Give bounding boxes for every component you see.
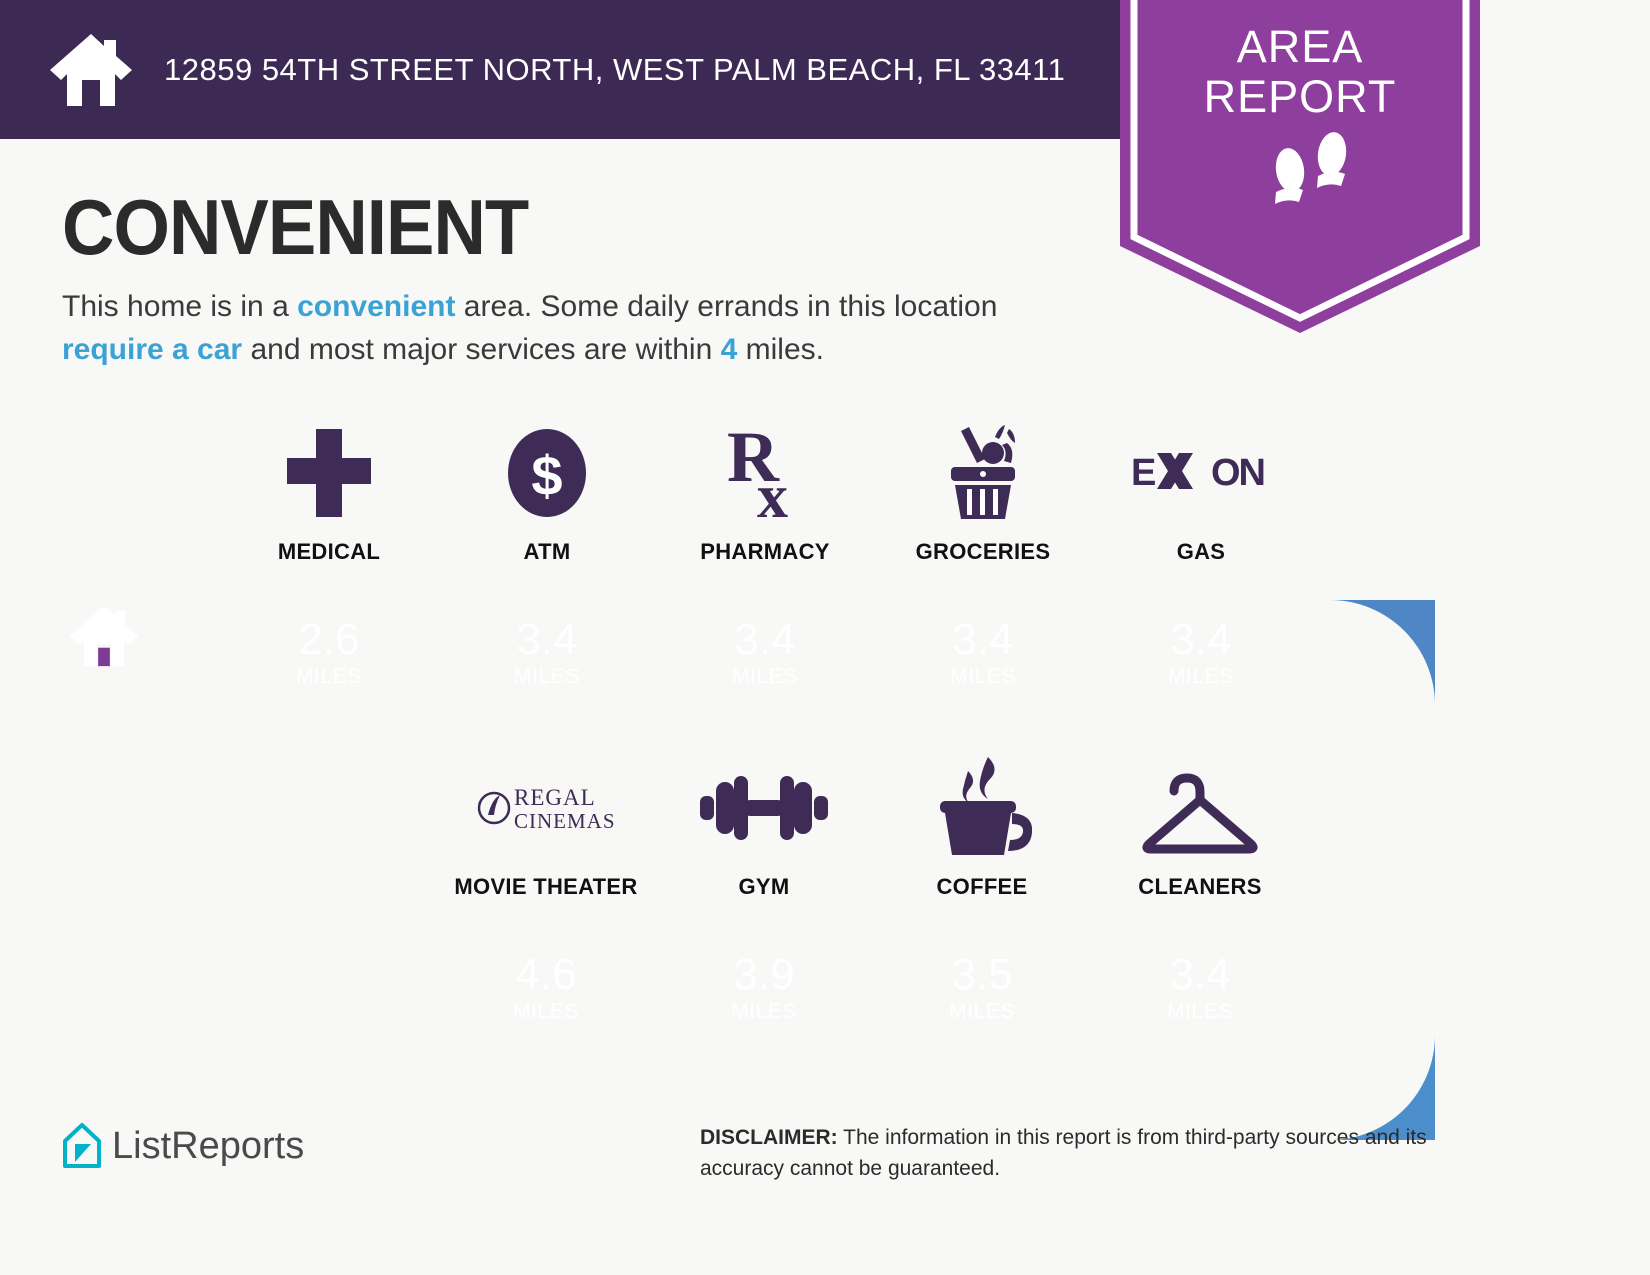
header-bar: 12859 54TH STREET NORTH, WEST PALM BEACH… [0, 0, 1122, 139]
area-report-badge: AREA REPORT [1120, 0, 1480, 333]
amenity-label: GAS [1177, 539, 1226, 565]
amenity-medical: MEDICAL [220, 420, 438, 565]
property-address: 12859 54TH STREET NORTH, WEST PALM BEACH… [164, 52, 1065, 88]
svg-text:ON: ON [1211, 452, 1264, 494]
distance-unit: MILES [1168, 665, 1234, 689]
amenity-pharmacy: R x PHARMACY [656, 420, 874, 565]
home-icon [68, 603, 140, 669]
amenity-label: GROCERIES [916, 539, 1051, 565]
distance-gym: 3.9 MILES [655, 935, 873, 1040]
amenity-atm: $ ATM [438, 420, 656, 565]
distance-unit: MILES [513, 1000, 579, 1024]
svg-text:REGAL: REGAL [514, 785, 596, 810]
summary-part-1: This home is in a [62, 290, 297, 323]
summary-part-2: area. Some daily errands in this locatio… [455, 290, 997, 323]
summary-highlight-2: require a car [62, 333, 242, 366]
segment-turn-right-low [1310, 920, 1510, 1150]
amenity-icon-row-1: MEDICAL $ ATM R x PHARMACY [220, 420, 1310, 565]
amenity-cleaners: CLEANERS [1091, 755, 1309, 900]
distance-value: 4.6 [515, 952, 576, 998]
home-icon [48, 32, 134, 108]
distance-gas: 3.4 MILES [1092, 600, 1310, 705]
summary-highlight-3: 4 [721, 333, 738, 366]
summary-part-4: miles. [737, 333, 824, 366]
distance-medical: 2.6 MILES [220, 600, 438, 705]
amenity-label: COFFEE [936, 874, 1027, 900]
amenity-gas: E ON GAS [1092, 420, 1310, 565]
distance-value: 3.4 [516, 617, 577, 663]
amenity-label: MEDICAL [278, 539, 380, 565]
badge-line-2: REPORT [1120, 72, 1480, 122]
distance-value: 2.6 [298, 617, 359, 663]
distance-unit: MILES [949, 1000, 1015, 1024]
amenity-movie-theater: REGAL CINEMAS MOVIE THEATER [437, 755, 655, 900]
badge-title: AREA REPORT [1120, 22, 1480, 122]
summary-text: This home is in a convenient area. Some … [62, 285, 1072, 371]
medical-cross-icon [281, 420, 377, 525]
distance-unit: MILES [296, 665, 362, 689]
distance-value: 3.5 [951, 952, 1012, 998]
segment-turn-right-top [1310, 600, 1510, 740]
dollar-coin-icon: $ [499, 420, 595, 525]
svg-text:CINEMAS: CINEMAS [514, 809, 616, 833]
amenity-gym: GYM [655, 755, 873, 900]
amenity-label: PHARMACY [700, 539, 830, 565]
amenity-groceries: GROCERIES [874, 420, 1092, 565]
clothes-hanger-icon [1135, 755, 1265, 860]
distance-value: 3.9 [733, 952, 794, 998]
svg-text:E: E [1131, 452, 1155, 494]
distance-coffee: 3.5 MILES [873, 935, 1091, 1040]
page-title: CONVENIENT [62, 182, 528, 273]
disclaimer-label: DISCLAIMER: [700, 1126, 838, 1149]
distance-unit: MILES [950, 665, 1016, 689]
coffee-cup-icon [932, 755, 1032, 860]
rx-icon: R x [717, 420, 813, 525]
distance-groceries: 3.4 MILES [874, 600, 1092, 705]
amenity-coffee: COFFEE [873, 755, 1091, 900]
exxon-logo-icon: E ON [1131, 420, 1271, 525]
badge-line-1: AREA [1120, 22, 1480, 72]
distance-value: 3.4 [952, 617, 1013, 663]
svg-text:$: $ [531, 444, 562, 507]
distance-value: 3.4 [734, 617, 795, 663]
distance-unit: MILES [1167, 1000, 1233, 1024]
amenity-label: CLEANERS [1138, 874, 1261, 900]
distance-movie-theater: 4.6 MILES [437, 935, 655, 1040]
dumbbell-icon [694, 755, 834, 860]
summary-highlight-1: convenient [297, 290, 455, 323]
ribbon-bottom-white-2 [440, 1195, 1650, 1275]
distance-row-1: 2.6 MILES 3.4 MILES 3.4 MILES 3.4 MILES … [220, 600, 1310, 705]
distance-value: 3.4 [1169, 952, 1230, 998]
distance-unit: MILES [732, 665, 798, 689]
listreports-wordmark: ListReports [112, 1125, 304, 1168]
distance-atm: 3.4 MILES [438, 600, 656, 705]
distance-pharmacy: 3.4 MILES [656, 600, 874, 705]
listreports-logo[interactable]: ListReports [62, 1122, 304, 1170]
distance-value: 3.4 [1170, 617, 1231, 663]
disclaimer: DISCLAIMER: The information in this repo… [700, 1122, 1510, 1184]
distance-row-2: 4.6 MILES 3.9 MILES 3.5 MILES 3.4 MILES [437, 935, 1309, 1040]
svg-text:x: x [757, 463, 788, 523]
amenity-label: MOVIE THEATER [454, 874, 637, 900]
distance-unit: MILES [731, 1000, 797, 1024]
distance-unit: MILES [514, 665, 580, 689]
regal-cinemas-logo-icon: REGAL CINEMAS [476, 755, 616, 860]
distance-cleaners: 3.4 MILES [1091, 935, 1309, 1040]
summary-part-3: and most major services are within [242, 333, 721, 366]
amenity-label: GYM [738, 874, 789, 900]
listreports-house-icon [62, 1122, 102, 1170]
grocery-basket-icon [931, 420, 1035, 525]
amenity-label: ATM [524, 539, 571, 565]
amenity-icon-row-2: REGAL CINEMAS MOVIE THEATER GYM [437, 755, 1309, 900]
